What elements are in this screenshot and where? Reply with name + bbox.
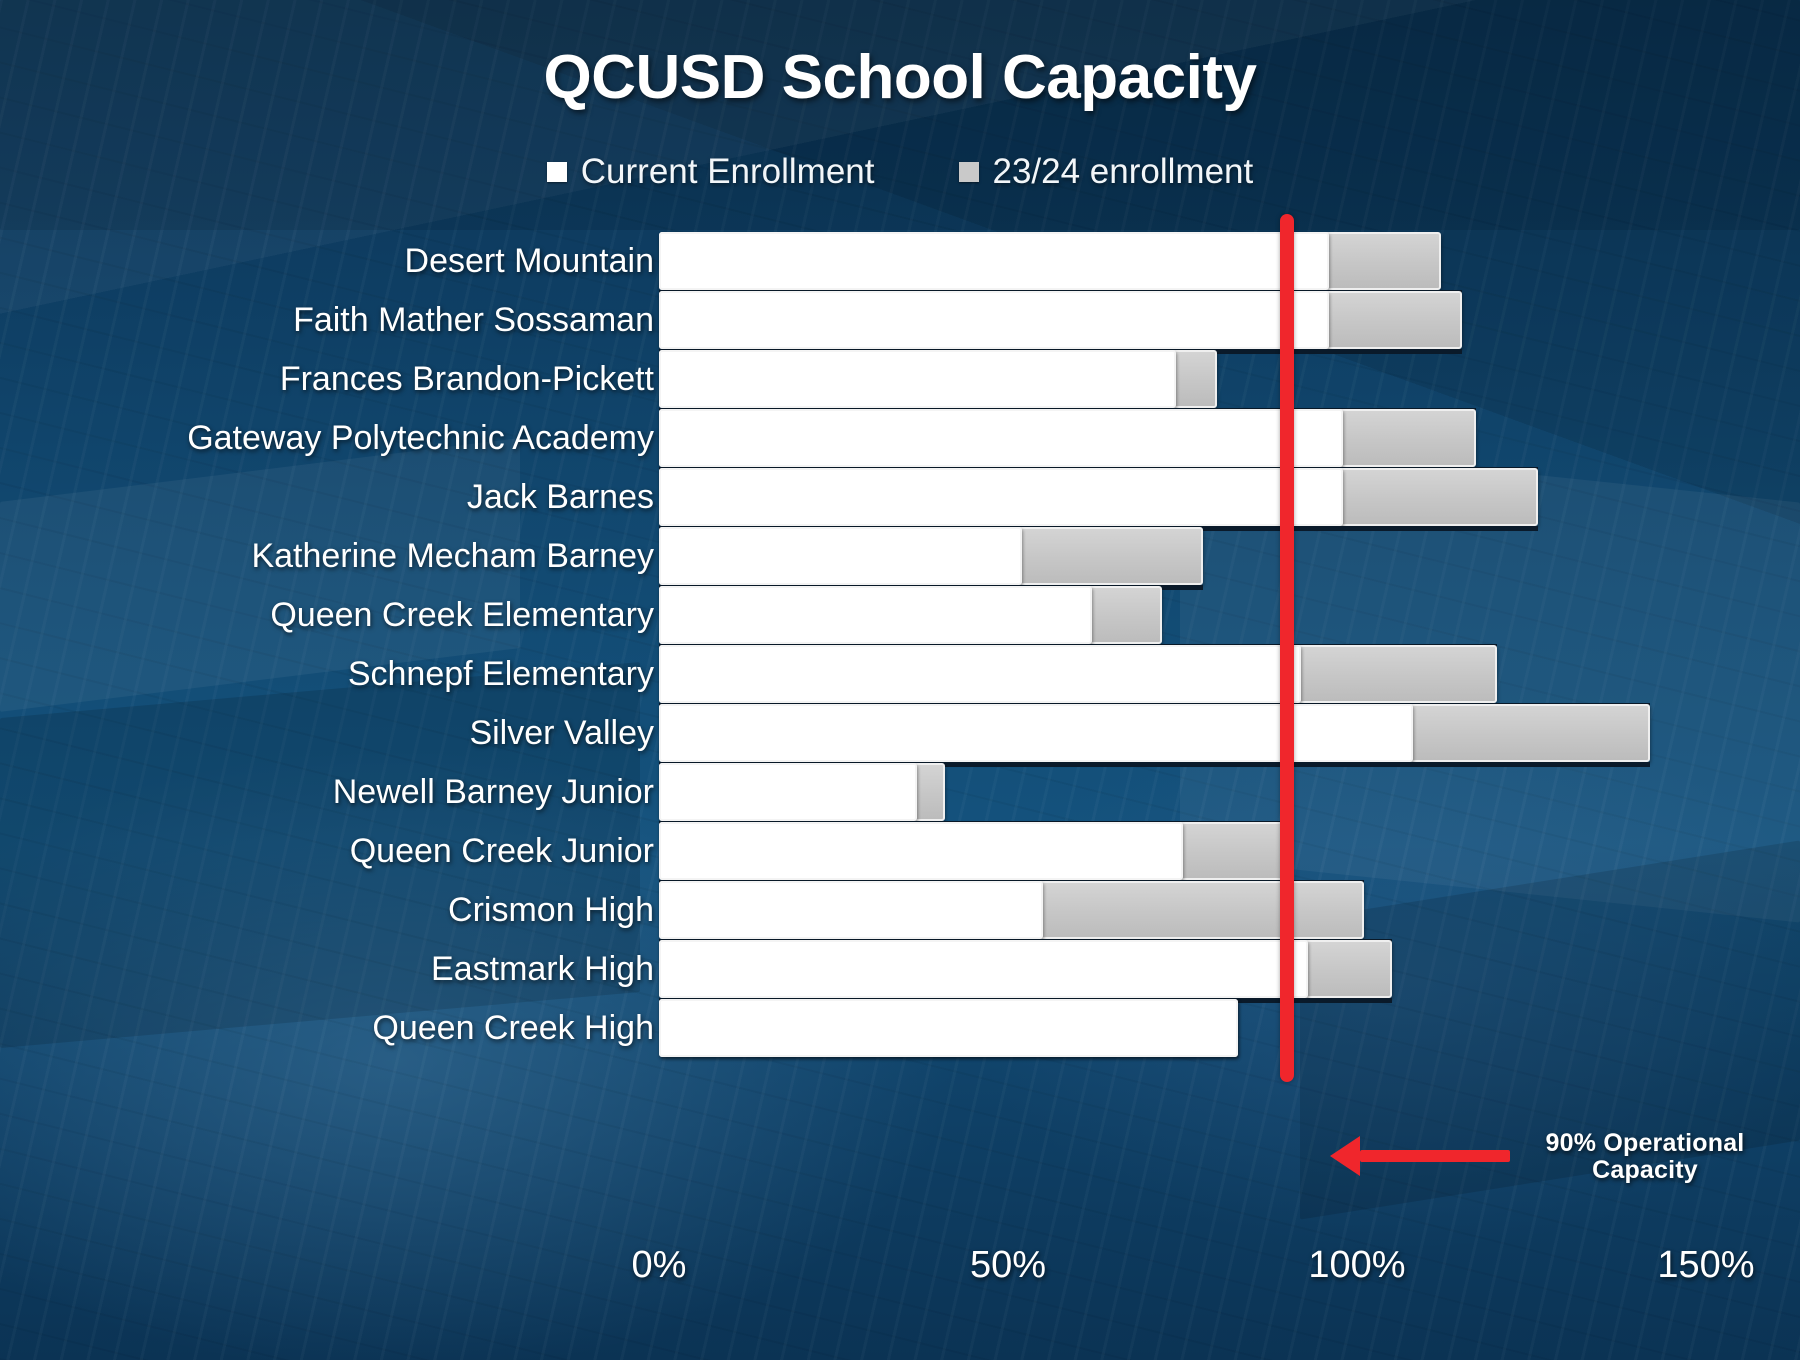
x-axis-tick-label: 0% <box>632 1244 687 1287</box>
bar-current-enrollment[interactable] <box>659 586 1092 644</box>
bar-group <box>659 940 1800 998</box>
bar-group <box>659 763 1800 821</box>
bar-current-enrollment[interactable] <box>659 291 1329 349</box>
bar-group <box>659 586 1800 644</box>
bar-current-enrollment[interactable] <box>659 468 1343 526</box>
bar-group <box>659 232 1800 290</box>
annotation-line-2: Capacity <box>1495 1157 1795 1184</box>
category-label: Schnepf Elementary <box>348 645 654 703</box>
bar-current-enrollment[interactable] <box>659 881 1043 939</box>
capacity-annotation-label: 90% Operational Capacity <box>1495 1130 1795 1184</box>
bar-group <box>659 468 1800 526</box>
chart-canvas: QCUSD School Capacity Current Enrollment… <box>0 0 1800 1360</box>
bar-current-enrollment[interactable] <box>659 704 1413 762</box>
category-label: Katherine Mecham Barney <box>251 527 654 585</box>
bar-current-enrollment[interactable] <box>659 645 1301 703</box>
bar-current-enrollment[interactable] <box>659 527 1022 585</box>
category-label: Silver Valley <box>469 704 654 762</box>
category-label: Newell Barney Junior <box>333 763 654 821</box>
category-label: Frances Brandon-Pickett <box>280 350 654 408</box>
bar-current-enrollment[interactable] <box>659 999 1238 1057</box>
category-label: Gateway Polytechnic Academy <box>187 409 654 467</box>
x-axis-tick-label: 50% <box>970 1244 1046 1287</box>
bar-current-enrollment[interactable] <box>659 822 1183 880</box>
category-label: Queen Creek Elementary <box>270 586 654 644</box>
bar-group <box>659 527 1800 585</box>
category-label: Desert Mountain <box>405 232 654 290</box>
bar-current-enrollment[interactable] <box>659 940 1308 998</box>
bar-current-enrollment[interactable] <box>659 232 1329 290</box>
category-label: Queen Creek Junior <box>350 822 654 880</box>
category-label: Crismon High <box>448 881 654 939</box>
x-axis-tick-label: 100% <box>1308 1244 1405 1287</box>
category-label: Jack Barnes <box>467 468 654 526</box>
category-label: Faith Mather Sossaman <box>293 291 654 349</box>
bar-group <box>659 350 1800 408</box>
annotation-line-1: 90% Operational <box>1495 1130 1795 1157</box>
category-label: Queen Creek High <box>372 999 654 1057</box>
bar-group <box>659 704 1800 762</box>
x-axis-tick-label: 150% <box>1657 1244 1754 1287</box>
bar-current-enrollment[interactable] <box>659 350 1176 408</box>
bar-current-enrollment[interactable] <box>659 763 917 821</box>
operational-capacity-line <box>1280 214 1294 1082</box>
bar-current-enrollment[interactable] <box>659 409 1343 467</box>
category-label: Eastmark High <box>431 940 654 998</box>
bar-group <box>659 881 1800 939</box>
bar-group <box>659 645 1800 703</box>
bar-group <box>659 822 1800 880</box>
bar-group <box>659 291 1800 349</box>
bar-group <box>659 409 1800 467</box>
bar-group <box>659 999 1800 1057</box>
